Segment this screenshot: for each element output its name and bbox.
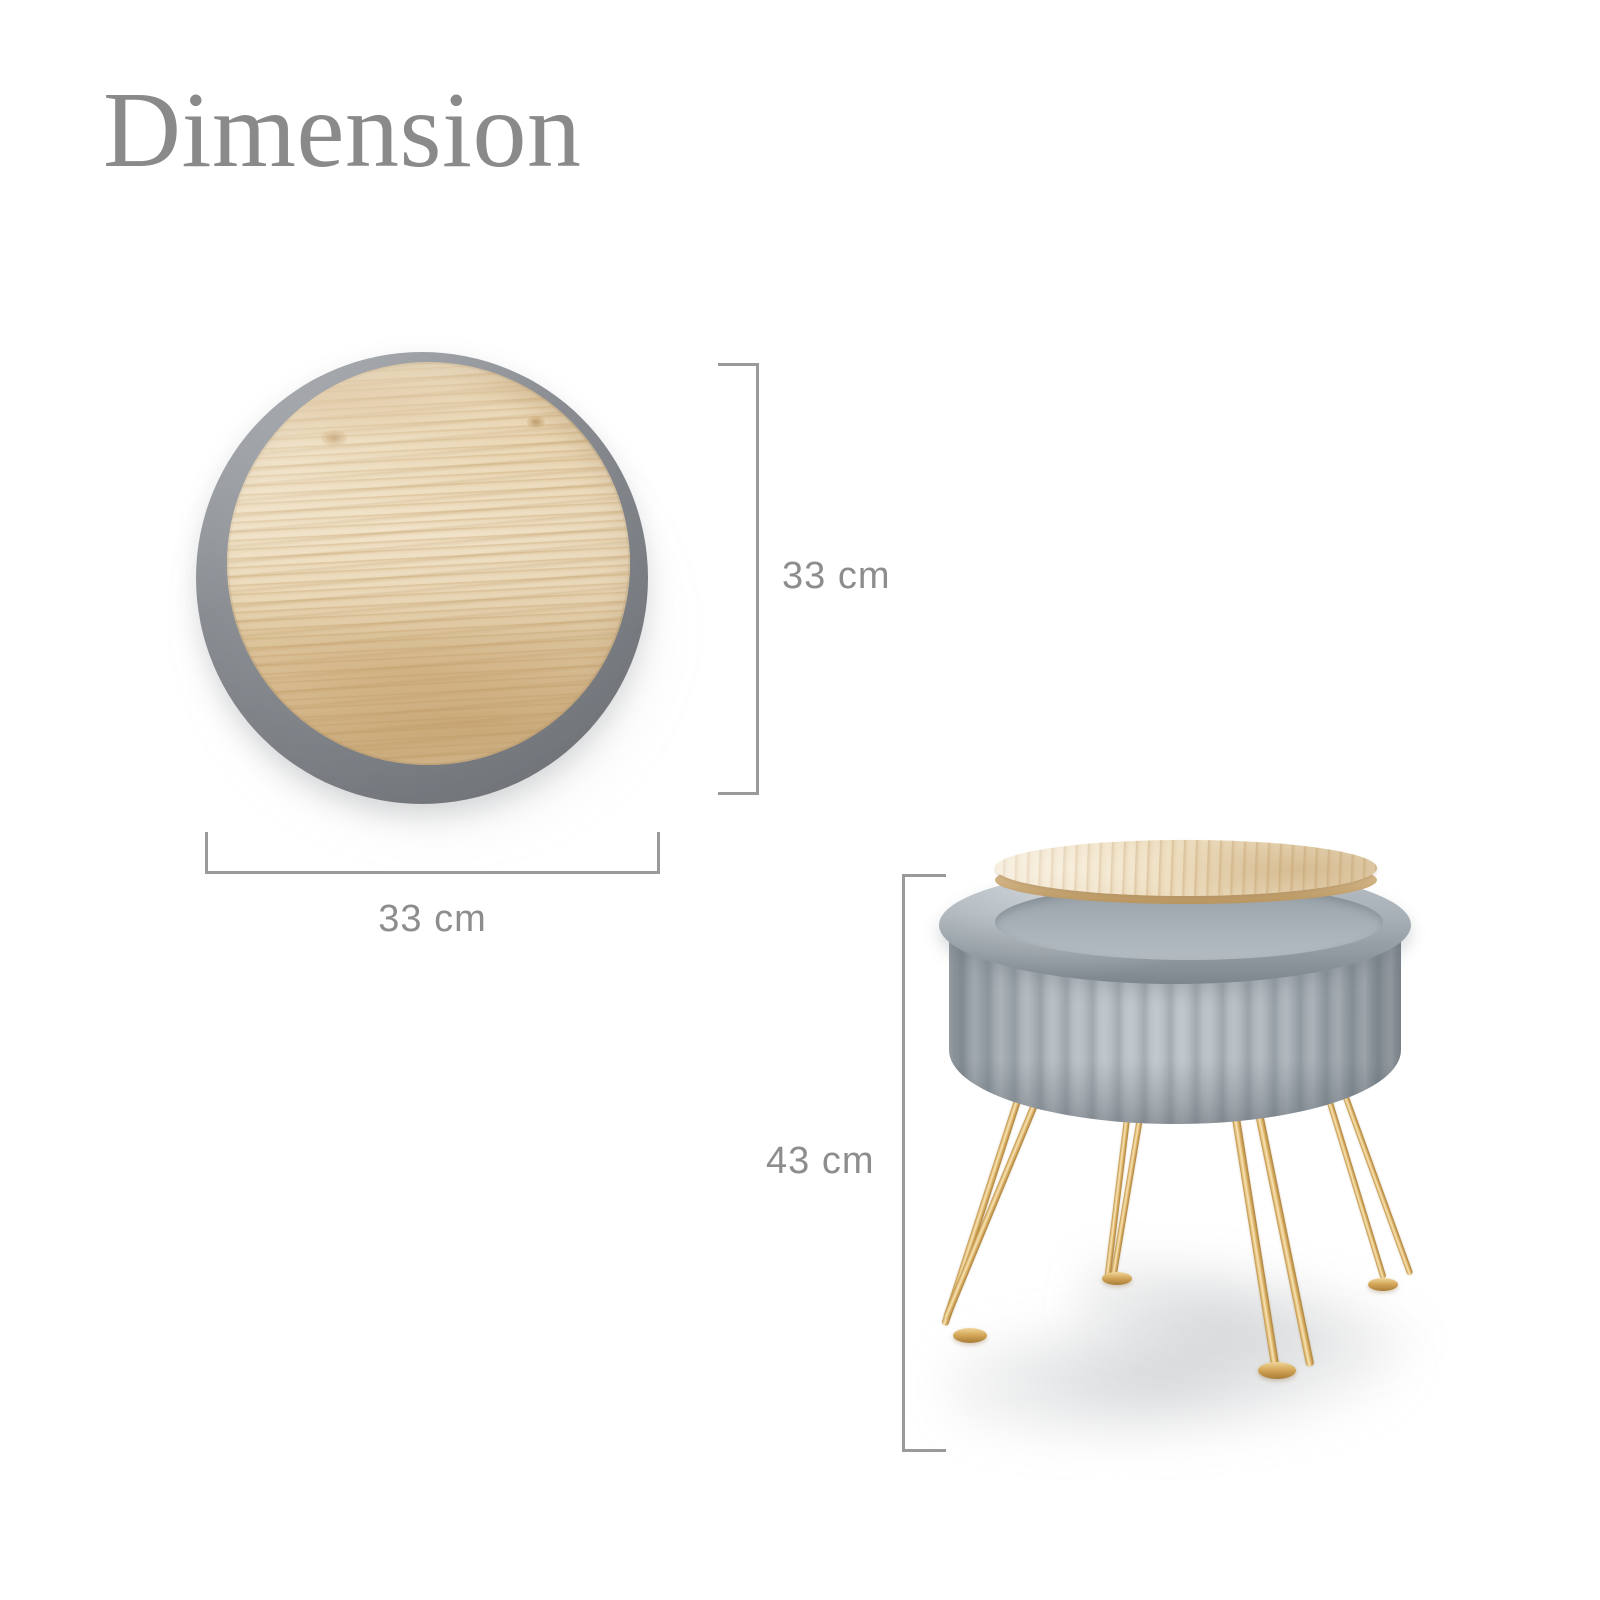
dimension-label-height: 43 cm	[766, 1140, 874, 1183]
drum-bottom-shading	[949, 1060, 1401, 1124]
leg-foot	[953, 1328, 987, 1343]
dimension-line-vertical	[756, 363, 759, 795]
dimension-line-horizontal	[205, 871, 660, 874]
dimension-tick-top	[902, 874, 946, 877]
top-view-product-image	[196, 344, 664, 810]
lid-top-face	[995, 840, 1377, 896]
lid-sheen	[995, 840, 1377, 896]
wooden-lid	[995, 838, 1377, 924]
dimension-label-diameter-vertical: 33 cm	[782, 555, 890, 598]
side-view-product-image	[925, 838, 1425, 1478]
dimension-label-diameter-horizontal: 33 cm	[0, 898, 865, 941]
dimension-line-vertical	[902, 874, 905, 1452]
dimension-infographic: Dimension 33 cm 33 cm	[0, 0, 1600, 1600]
dimension-tick-top	[718, 363, 759, 366]
leg-foot	[1102, 1272, 1132, 1285]
dimension-tick-bottom	[718, 792, 759, 795]
gold-hairpin-legs	[925, 1070, 1425, 1470]
leg-foot	[1368, 1278, 1398, 1291]
dimension-tick-right	[657, 832, 660, 874]
wood-lid-top-face	[227, 362, 630, 765]
wood-sheen	[227, 362, 630, 765]
leg-foot	[1258, 1362, 1296, 1379]
dimension-tick-left	[205, 832, 208, 874]
page-title: Dimension	[103, 74, 581, 187]
dimension-tick-bottom	[902, 1449, 946, 1452]
